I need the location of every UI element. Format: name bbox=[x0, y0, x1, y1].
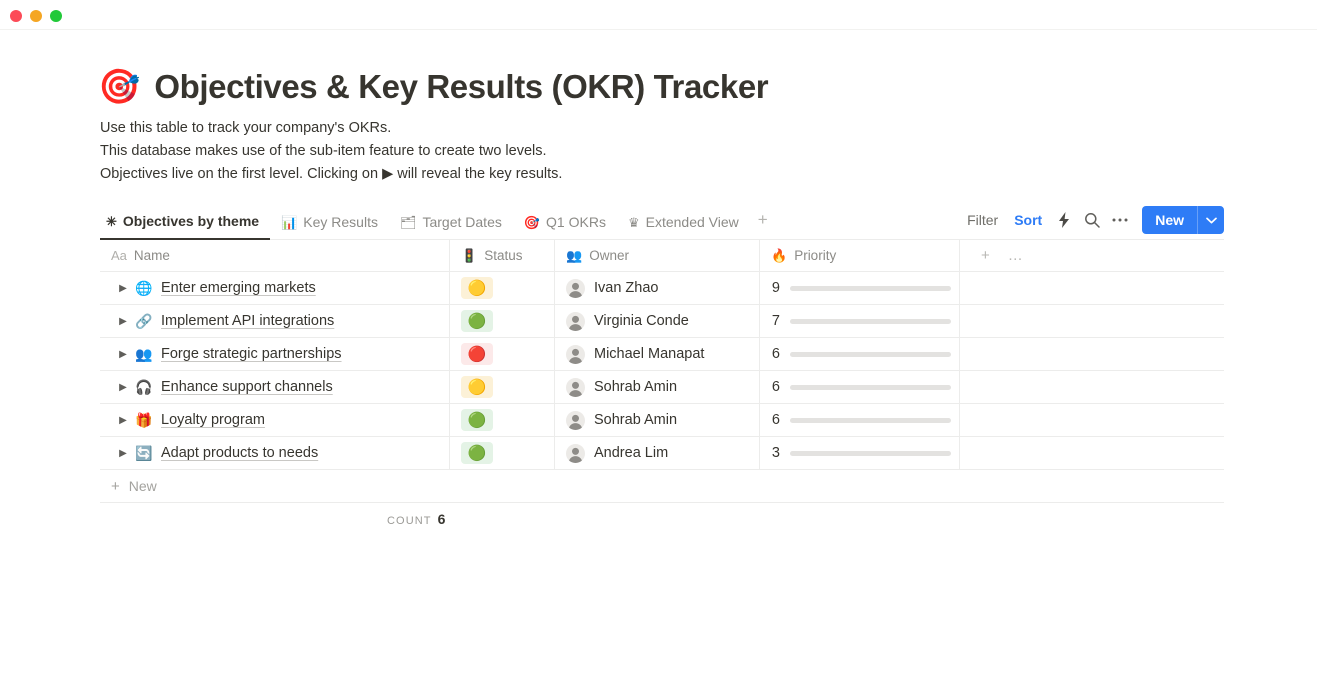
status-badge[interactable]: 🟡 bbox=[461, 376, 493, 398]
partnership-icon: 👥 bbox=[135, 347, 161, 361]
priority-bar bbox=[790, 418, 951, 423]
crown-icon: ♛ bbox=[628, 216, 640, 229]
sort-button[interactable]: Sort bbox=[1006, 208, 1050, 232]
count-value: 6 bbox=[438, 511, 446, 527]
column-header-priority[interactable]: 🔥 Priority bbox=[760, 240, 960, 272]
description-line: This database makes use of the sub-item … bbox=[100, 140, 1317, 163]
cell-priority[interactable]: 6 bbox=[760, 404, 960, 436]
table-row[interactable]: ▶🔄Adapt products to needs🟢Andrea Lim3 bbox=[100, 437, 1224, 470]
tab-label: Key Results bbox=[303, 214, 378, 230]
table-row[interactable]: ▶👥Forge strategic partnerships🔴Michael M… bbox=[100, 338, 1224, 371]
row-title[interactable]: Forge strategic partnerships bbox=[161, 346, 342, 362]
priority-value: 3 bbox=[771, 445, 780, 461]
chevron-down-icon[interactable] bbox=[1198, 206, 1224, 234]
page-description: Use this table to track your company's O… bbox=[100, 117, 1317, 186]
table-row[interactable]: ▶🎧Enhance support channels🟡Sohrab Amin6 bbox=[100, 371, 1224, 404]
status-badge[interactable]: 🟢 bbox=[461, 310, 493, 332]
cell-owner[interactable]: Sohrab Amin bbox=[555, 404, 760, 436]
window-minimize-button[interactable] bbox=[30, 10, 42, 22]
priority-bar bbox=[790, 319, 951, 324]
priority-value: 6 bbox=[771, 346, 780, 362]
plus-icon: + bbox=[111, 479, 120, 494]
view-toolbar: Filter Sort New bbox=[959, 206, 1224, 234]
row-title[interactable]: Adapt products to needs bbox=[161, 445, 318, 461]
priority-bar bbox=[790, 451, 951, 456]
cell-priority[interactable]: 9 bbox=[760, 272, 960, 304]
tab-target-dates[interactable]: 🗂 Target Dates bbox=[389, 214, 513, 239]
lightning-icon[interactable] bbox=[1050, 207, 1078, 233]
priority-bar bbox=[790, 385, 951, 390]
people-icon: 👥 bbox=[566, 249, 582, 262]
count-label: COUNT bbox=[387, 515, 432, 527]
cell-priority[interactable]: 3 bbox=[760, 437, 960, 469]
new-row-label: New bbox=[129, 478, 157, 494]
column-header-label: Priority bbox=[794, 248, 836, 263]
target-icon: 🎯 bbox=[524, 216, 540, 229]
new-button-label: New bbox=[1142, 212, 1197, 228]
column-options-icon[interactable]: … bbox=[1008, 248, 1023, 263]
cell-owner[interactable]: Virginia Conde bbox=[555, 305, 760, 337]
table-body: ▶🌐Enter emerging markets🟡Ivan Zhao9▶🔗Imp… bbox=[100, 272, 1224, 470]
page-title[interactable]: Objectives & Key Results (OKR) Tracker bbox=[154, 68, 768, 106]
status-badge[interactable]: 🟢 bbox=[461, 409, 493, 431]
column-header-label: Status bbox=[484, 248, 522, 263]
cell-tail bbox=[960, 338, 1224, 370]
status-badge[interactable]: 🟢 bbox=[461, 442, 493, 464]
avatar bbox=[566, 279, 585, 298]
window-traffic-lights bbox=[10, 10, 62, 22]
cell-status[interactable]: 🟢 bbox=[450, 404, 555, 436]
priority-value: 6 bbox=[771, 412, 780, 428]
tab-objectives-by-theme[interactable]: ✳ Objectives by theme bbox=[100, 213, 270, 240]
table-row[interactable]: ▶🌐Enter emerging markets🟡Ivan Zhao9 bbox=[100, 272, 1224, 305]
owner-name: Virginia Conde bbox=[594, 313, 689, 329]
cell-owner[interactable]: Sohrab Amin bbox=[555, 371, 760, 403]
cell-tail bbox=[960, 305, 1224, 337]
page-title-row: 🎯 Objectives & Key Results (OKR) Tracker bbox=[98, 68, 1317, 106]
avatar bbox=[566, 312, 585, 331]
okr-table: Aa Name 🚦 Status 👥 Owner 🔥 Priority + … … bbox=[100, 240, 1224, 535]
owner-name: Sohrab Amin bbox=[594, 379, 677, 395]
avatar bbox=[566, 411, 585, 430]
cell-tail bbox=[960, 437, 1224, 469]
page-content: 🎯 Objectives & Key Results (OKR) Tracker… bbox=[0, 30, 1317, 535]
row-title[interactable]: Implement API integrations bbox=[161, 313, 334, 329]
priority-bar bbox=[790, 286, 951, 291]
expand-row-icon[interactable]: ▶ bbox=[111, 415, 135, 426]
add-view-button[interactable]: + bbox=[750, 210, 776, 239]
search-icon[interactable] bbox=[1078, 207, 1106, 233]
tab-label: Extended View bbox=[646, 214, 739, 230]
window-titlebar bbox=[0, 0, 1317, 30]
bar-chart-icon: 📊 bbox=[281, 216, 297, 229]
new-button[interactable]: New bbox=[1142, 206, 1224, 234]
cell-name: ▶🌐Enter emerging markets bbox=[100, 272, 450, 304]
cell-name: ▶🔗Implement API integrations bbox=[100, 305, 450, 337]
filter-button[interactable]: Filter bbox=[959, 208, 1006, 232]
traffic-light-icon: 🚦 bbox=[461, 249, 477, 262]
cell-tail bbox=[960, 371, 1224, 403]
api-network-icon: 🔗 bbox=[135, 314, 161, 328]
tab-label: Objectives by theme bbox=[123, 213, 259, 229]
column-header-status[interactable]: 🚦 Status bbox=[450, 240, 555, 272]
row-title[interactable]: Enter emerging markets bbox=[161, 280, 316, 296]
tab-label: Target Dates bbox=[422, 214, 501, 230]
table-row[interactable]: ▶🔗Implement API integrations🟢Virginia Co… bbox=[100, 305, 1224, 338]
cell-priority[interactable]: 6 bbox=[760, 338, 960, 370]
tab-extended-view[interactable]: ♛ Extended View bbox=[617, 214, 750, 239]
table-row[interactable]: ▶🎁Loyalty program🟢Sohrab Amin6 bbox=[100, 404, 1224, 437]
expand-row-icon[interactable]: ▶ bbox=[111, 382, 135, 393]
cell-owner[interactable]: Michael Manapat bbox=[555, 338, 760, 370]
cell-name: ▶🔄Adapt products to needs bbox=[100, 437, 450, 469]
table-header-row: Aa Name 🚦 Status 👥 Owner 🔥 Priority + … bbox=[100, 240, 1224, 272]
flame-icon: 🔥 bbox=[771, 249, 787, 262]
cell-status[interactable]: 🔴 bbox=[450, 338, 555, 370]
cell-name: ▶🎁Loyalty program bbox=[100, 404, 450, 436]
cell-status[interactable]: 🟡 bbox=[450, 371, 555, 403]
column-header-label: Name bbox=[134, 248, 170, 263]
description-line: Use this table to track your company's O… bbox=[100, 117, 1317, 140]
asterisk-icon: ✳ bbox=[106, 215, 117, 228]
row-title[interactable]: Enhance support channels bbox=[161, 379, 333, 395]
row-title[interactable]: Loyalty program bbox=[161, 412, 265, 428]
headset-icon: 🎧 bbox=[135, 380, 161, 394]
tab-q1-okrs[interactable]: 🎯 Q1 OKRs bbox=[513, 214, 617, 239]
window-close-button[interactable] bbox=[10, 10, 22, 22]
gift-icon: 🎁 bbox=[135, 413, 161, 427]
expand-row-icon[interactable]: ▶ bbox=[111, 316, 135, 327]
view-tabbar: ✳ Objectives by theme 📊 Key Results 🗂 Ta… bbox=[100, 207, 1224, 240]
cell-status[interactable]: 🟢 bbox=[450, 437, 555, 469]
owner-name: Andrea Lim bbox=[594, 445, 668, 461]
cell-owner[interactable]: Andrea Lim bbox=[555, 437, 760, 469]
cell-priority[interactable]: 6 bbox=[760, 371, 960, 403]
product-flow-icon: 🔄 bbox=[135, 446, 161, 460]
tab-key-results[interactable]: 📊 Key Results bbox=[270, 214, 389, 239]
status-badge[interactable]: 🔴 bbox=[461, 343, 493, 365]
cell-status[interactable]: 🟡 bbox=[450, 272, 555, 304]
count-summary[interactable]: COUNT 6 bbox=[387, 511, 445, 527]
cell-priority[interactable]: 7 bbox=[760, 305, 960, 337]
tab-label: Q1 OKRs bbox=[546, 214, 606, 230]
priority-bar bbox=[790, 352, 951, 357]
add-column-icon[interactable]: + bbox=[981, 248, 990, 263]
cell-status[interactable]: 🟢 bbox=[450, 305, 555, 337]
table-footer: COUNT 6 bbox=[100, 503, 1224, 535]
globe-icon: 🌐 bbox=[135, 281, 161, 295]
owner-name: Michael Manapat bbox=[594, 346, 704, 362]
cell-owner[interactable]: Ivan Zhao bbox=[555, 272, 760, 304]
cell-tail bbox=[960, 272, 1224, 304]
avatar bbox=[566, 345, 585, 364]
view-tabs: ✳ Objectives by theme 📊 Key Results 🗂 Ta… bbox=[100, 210, 776, 239]
avatar bbox=[566, 444, 585, 463]
cell-tail bbox=[960, 404, 1224, 436]
priority-value: 7 bbox=[771, 313, 780, 329]
owner-name: Sohrab Amin bbox=[594, 412, 677, 428]
cell-name: ▶🎧Enhance support channels bbox=[100, 371, 450, 403]
status-badge[interactable]: 🟡 bbox=[461, 277, 493, 299]
owner-name: Ivan Zhao bbox=[594, 280, 659, 296]
expand-row-icon[interactable]: ▶ bbox=[111, 448, 135, 459]
description-line: Objectives live on the first level. Clic… bbox=[100, 163, 1317, 186]
text-type-icon: Aa bbox=[111, 249, 127, 262]
window-maximize-button[interactable] bbox=[50, 10, 62, 22]
column-header-tail: + … bbox=[960, 240, 1224, 272]
new-row-button[interactable]: + New bbox=[100, 470, 1224, 503]
expand-row-icon[interactable]: ▶ bbox=[111, 349, 135, 360]
avatar bbox=[566, 378, 585, 397]
more-options-icon[interactable] bbox=[1106, 207, 1134, 233]
target-emoji-icon: 🎯 bbox=[98, 70, 140, 104]
priority-value: 9 bbox=[771, 280, 780, 296]
column-header-name[interactable]: Aa Name bbox=[100, 240, 450, 272]
timeline-icon: 🗂 bbox=[400, 216, 417, 229]
expand-row-icon[interactable]: ▶ bbox=[111, 283, 135, 294]
column-header-owner[interactable]: 👥 Owner bbox=[555, 240, 760, 272]
priority-value: 6 bbox=[771, 379, 780, 395]
column-header-label: Owner bbox=[589, 248, 629, 263]
cell-name: ▶👥Forge strategic partnerships bbox=[100, 338, 450, 370]
